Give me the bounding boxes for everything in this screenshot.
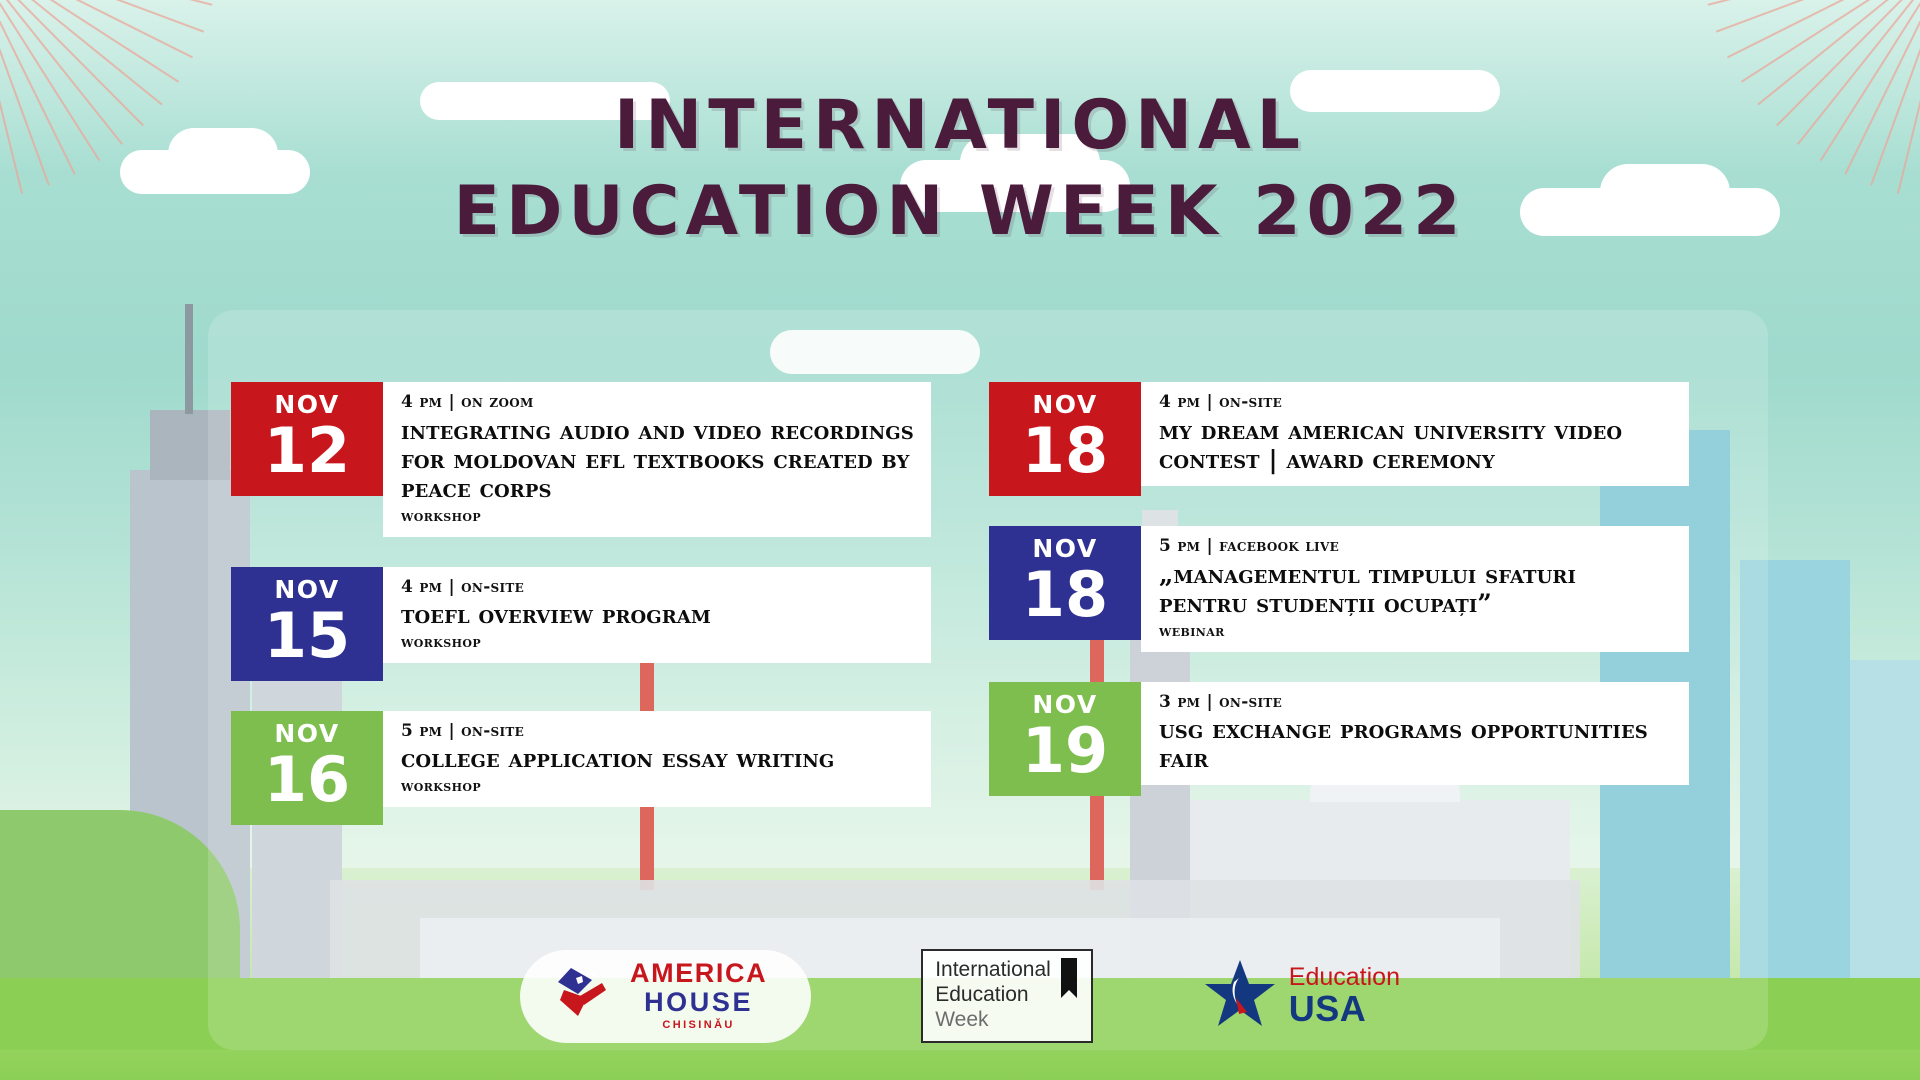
event-day: 16 [264,748,350,811]
event-info-box: 5 PM | ON-SITECollege Application Essay … [383,711,931,808]
event-info-box: 4 PM | ON-SITETOEFL Overview ProgramWork… [383,567,931,664]
event-day: 18 [1022,419,1108,482]
poster-title: INTERNATIONAL EDUCATION WEEK 2022 [0,92,1920,246]
event-date-box: NOV18 [989,382,1141,496]
event-meta: 3 PM | ON-SITE [1159,693,1673,713]
event-date-box: NOV15 [231,567,383,681]
event-meta: 5 PM | Facebook Live [1159,537,1673,557]
event-type: Workshop [401,506,915,525]
event-info-box: 3 PM | ON-SITEUSG Exchange Programs Oppo… [1141,682,1689,786]
education-usa-line-2: USA [1289,991,1400,1027]
event-card[interactable]: NOV193 PM | ON-SITEUSG Exchange Programs… [989,682,1689,796]
event-date-box: NOV18 [989,526,1141,640]
events-column-left: NOV124 PM | ON ZOOMIntegrating Audio and… [231,382,931,855]
poster-canvas: INTERNATIONAL EDUCATION WEEK 2022 NOV124… [0,0,1920,1080]
iew-line-2: Education [935,983,1051,1008]
america-house-line-1: AMERICA [630,960,767,987]
event-info-box: 4 PM | ON ZOOMIntegrating Audio and Vide… [383,382,931,537]
star-icon [1203,958,1277,1035]
america-house-mark-icon [554,964,616,1027]
bookmark-icon [1059,958,1079,1009]
event-title: „Managementul timpului sfaturi pentru st… [1159,560,1673,618]
footer-logos: AMERICA HOUSE CHISINĂU International Edu… [0,936,1920,1056]
event-card[interactable]: NOV184 PM | ON-SITEMy Dream American Uni… [989,382,1689,496]
event-card[interactable]: NOV185 PM | Facebook Live„Managementul t… [989,526,1689,652]
event-title: USG Exchange Programs Opportunities Fair [1159,715,1673,773]
events-column-right: NOV184 PM | ON-SITEMy Dream American Uni… [989,382,1689,855]
event-title: Integrating Audio and Video Recordings f… [401,416,915,503]
event-title: TOEFL Overview Program [401,600,915,629]
event-type: Workshop [401,776,915,795]
event-date-box: NOV19 [989,682,1141,796]
title-line-2: EDUCATION WEEK 2022 [0,178,1920,246]
education-usa-logo[interactable]: Education USA [1203,958,1400,1035]
education-usa-line-1: Education [1289,965,1400,990]
title-line-1: INTERNATIONAL [0,92,1920,160]
iew-line-1: International [935,958,1051,983]
event-date-box: NOV16 [231,711,383,825]
event-card[interactable]: NOV154 PM | ON-SITETOEFL Overview Progra… [231,567,931,681]
event-type: Workshop [401,632,915,651]
event-card[interactable]: NOV124 PM | ON ZOOMIntegrating Audio and… [231,382,931,537]
international-education-week-logo[interactable]: International Education Week [921,949,1093,1042]
america-house-logo[interactable]: AMERICA HOUSE CHISINĂU [520,950,811,1043]
event-month: NOV [274,577,339,602]
event-title: My Dream American University Video Conte… [1159,416,1673,474]
event-day: 19 [1022,719,1108,782]
iew-line-3: Week [935,1008,1051,1033]
event-day: 15 [264,604,350,667]
event-day: 12 [264,419,350,482]
america-house-line-2: HOUSE [644,989,753,1016]
event-title: College Application Essay Writing [401,744,915,773]
events-grid: NOV124 PM | ON ZOOMIntegrating Audio and… [0,382,1920,855]
event-meta: 4 PM | ON ZOOM [401,393,915,413]
event-meta: 4 PM | ON-SITE [401,578,915,598]
event-meta: 5 PM | ON-SITE [401,722,915,742]
event-meta: 4 PM | ON-SITE [1159,393,1673,413]
event-card[interactable]: NOV165 PM | ON-SITECollege Application E… [231,711,931,825]
event-info-box: 4 PM | ON-SITEMy Dream American Universi… [1141,382,1689,486]
event-date-box: NOV12 [231,382,383,496]
america-house-line-3: CHISINĂU [662,1020,734,1031]
event-type: webinar [1159,621,1673,640]
event-day: 18 [1022,563,1108,626]
event-info-box: 5 PM | Facebook Live„Managementul timpul… [1141,526,1689,652]
